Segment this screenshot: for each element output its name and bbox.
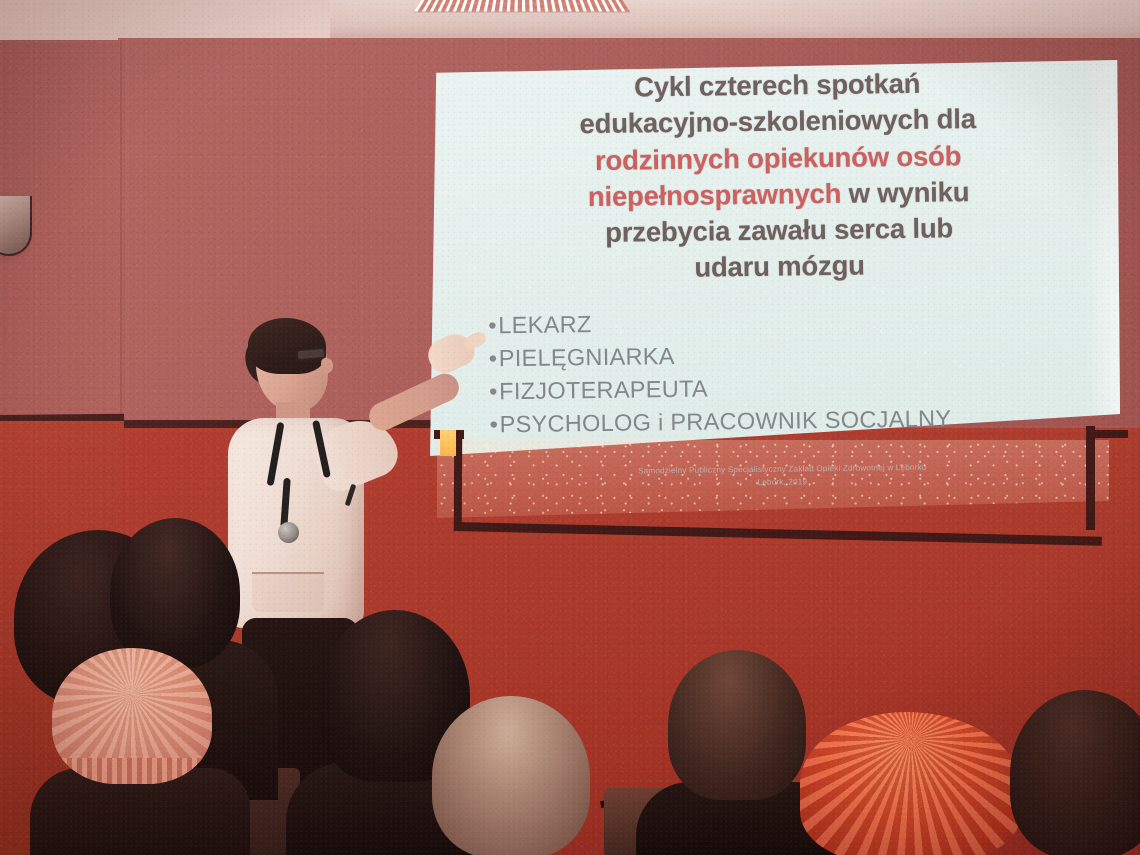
seated-audience (0, 500, 1140, 855)
attendee-head (1010, 690, 1140, 855)
attendee-head (800, 712, 1022, 855)
beanie-brim (52, 758, 212, 784)
presenter-face-profile (321, 358, 333, 373)
projection-screen (430, 60, 1120, 460)
presenter-raised-arm (365, 369, 464, 435)
attendee-head (668, 650, 806, 800)
presentation-room-scene: Cykl czterech spotkań edukacyjno-szkolen… (0, 0, 1140, 855)
attendee-head (432, 696, 590, 855)
wall-sconce-icon (0, 196, 32, 256)
wall-corner-seam (120, 40, 122, 440)
hair-curl-texture (800, 712, 1022, 855)
ceiling-light-icon (414, 0, 630, 12)
attendee-knit-beanie (52, 648, 212, 784)
ceiling-light-louvers (414, 0, 630, 12)
presenter-hair (248, 318, 326, 374)
attendee-head (110, 518, 240, 668)
